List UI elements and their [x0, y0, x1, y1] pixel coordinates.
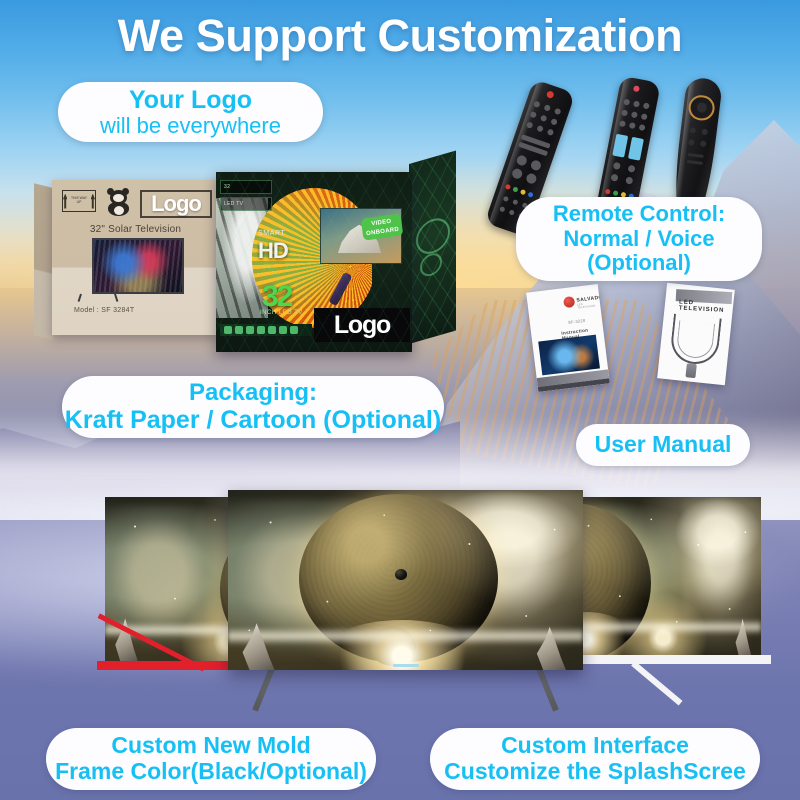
tv-right-white-stand — [635, 661, 735, 701]
label-packaging-line1: Packaging: — [189, 380, 317, 407]
spec-badge-size: 32 — [220, 180, 272, 194]
promo-banner: We Support Customization THIS WAY UP Log… — [0, 0, 800, 800]
label-your-logo-line1: Your Logo — [129, 86, 252, 114]
screen-size-label: 32 — [262, 280, 291, 314]
screen-size-sublabel: INCH LED TV — [260, 310, 303, 316]
tv-right-screen — [565, 497, 761, 657]
label-custom-interface-line2: Customize the SplashScree — [444, 759, 746, 785]
cartoon-colour-box: 32 LED TV SMART HD 32 INCH LED TV VIDEO … — [216, 164, 456, 356]
spec-badge-type: LED TV — [220, 197, 272, 211]
label-remote-control: Remote Control: Normal / Voice (Optional… — [516, 197, 762, 281]
label-remote-line1: Remote Control: — [553, 202, 725, 227]
tv-center-bezel — [228, 490, 583, 670]
label-your-logo-line2: will be everywhere — [100, 114, 281, 139]
manual-brand-sub: LED TELEVISION — [577, 301, 601, 310]
label-remote-line3: (Optional) — [587, 251, 691, 276]
kraft-box-side — [34, 183, 53, 340]
label-your-logo: Your Logo will be everywhere — [58, 82, 323, 142]
label-custom-mold: Custom New Mold Frame Color(Black/Option… — [46, 728, 376, 790]
kraft-box-logo-placeholder: Logo — [140, 190, 212, 218]
tv-center-screen — [228, 490, 583, 670]
label-custom-interface: Custom Interface Customize the SplashScr… — [430, 728, 760, 790]
page-title: We Support Customization — [0, 10, 800, 62]
hd-label: HD — [258, 238, 288, 264]
manual-cover-image — [538, 335, 600, 376]
label-packaging: Packaging: Kraft Paper / Cartoon (Option… — [62, 376, 444, 438]
tv-right-white-frame — [565, 497, 761, 657]
cartoon-box-side — [409, 151, 456, 344]
manual-model: SF-3220 — [568, 318, 586, 325]
cartoon-box-feature-icons — [220, 324, 312, 336]
label-custom-mold-line2: Frame Color(Black/Optional) — [55, 759, 367, 785]
this-way-up-icon: THIS WAY UP — [62, 190, 96, 212]
kraft-box-title: 32" Solar Television — [52, 224, 219, 235]
tv-center-power-led — [393, 664, 419, 667]
panda-logo-icon — [104, 188, 134, 218]
tv-center-grey-frame — [228, 490, 583, 670]
fragile-label: THIS WAY UP — [69, 197, 88, 204]
label-custom-interface-line1: Custom Interface — [501, 733, 689, 759]
tv-right-bezel — [565, 497, 761, 657]
cartoon-box-front: 32 LED TV SMART HD 32 INCH LED TV VIDEO … — [216, 172, 412, 352]
salvador-logo-icon — [563, 296, 575, 308]
user-manual-back: LED TELEVISION — [657, 283, 735, 386]
label-packaging-line2: Kraft Paper / Cartoon (Optional) — [65, 406, 441, 434]
kraft-box-front: THIS WAY UP Logo 32" Solar Television Mo… — [52, 180, 219, 335]
cartoon-box-logo-placeholder: Logo — [314, 308, 410, 342]
label-user-manual: User Manual — [576, 424, 750, 466]
label-user-manual-line1: User Manual — [595, 432, 732, 458]
kraft-box-tv-stand — [78, 294, 118, 301]
manual-2-title: LED TELEVISION — [679, 299, 734, 314]
manual-2-stand-graphic — [685, 363, 696, 378]
user-manual-front: SALVADOR LED TELEVISION SF-3220 Instruct… — [526, 284, 610, 392]
kraft-box-model-text: Model : SF 3284T — [74, 307, 134, 314]
smart-label: SMART — [258, 230, 285, 237]
kraft-paper-box: THIS WAY UP Logo 32" Solar Television Mo… — [34, 180, 219, 348]
kraft-box-tv-image — [92, 238, 184, 294]
tv-left-red-stand — [87, 667, 199, 701]
label-remote-line2: Normal / Voice — [563, 227, 714, 252]
cartoon-box-spec-badges: 32 LED TV — [220, 180, 272, 214]
label-custom-mold-line1: Custom New Mold — [111, 733, 310, 759]
